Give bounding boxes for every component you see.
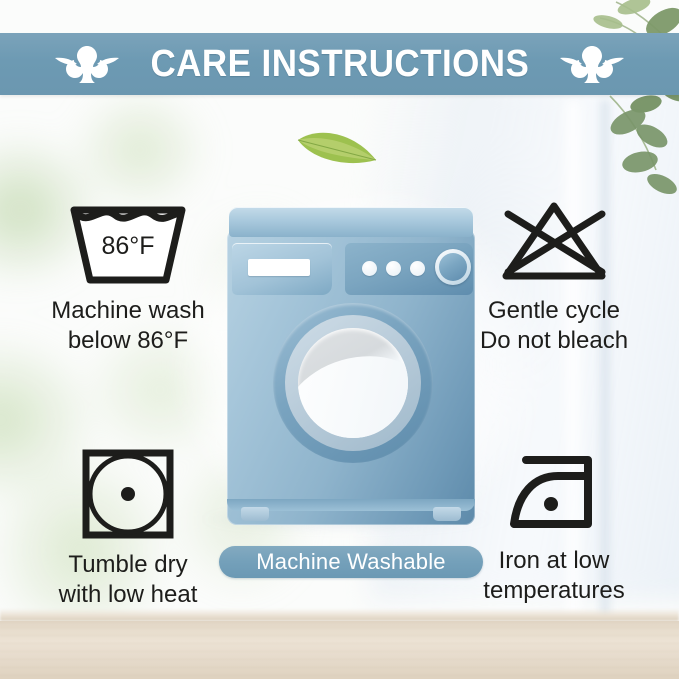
- machine-top-lid: [229, 207, 473, 237]
- header-banner: CARE INSTRUCTIONS: [0, 33, 679, 95]
- care-item-caption: Machine wash below 86°F: [10, 296, 246, 356]
- front-load-washing-machine-illustration: [227, 207, 475, 525]
- page-title: CARE INSTRUCTIONS: [150, 43, 529, 86]
- machine-door-glass-highlight: [298, 339, 408, 438]
- tumble-dry-low-heat-icon: [10, 446, 246, 542]
- table-edge: [0, 609, 679, 621]
- care-item-caption: Tumble dry with low heat: [10, 550, 246, 610]
- machine-foot-left: [241, 507, 269, 521]
- control-button-3: [410, 261, 425, 276]
- wooden-table-surface: [0, 621, 679, 679]
- program-dial: [435, 249, 471, 285]
- machine-door-outer-ring: [273, 303, 433, 463]
- fleur-de-lis-icon-right: [559, 42, 625, 86]
- green-leaf-icon: [296, 124, 380, 170]
- wash-temperature-value: 86°F: [101, 232, 154, 260]
- detergent-drawer-slot: [248, 259, 310, 276]
- machine-washable-badge: Machine Washable: [219, 546, 483, 578]
- care-instructions-infographic: CARE INSTRUCTIONS: [0, 0, 679, 679]
- detergent-drawer: [232, 243, 332, 295]
- table-wood-grain: [0, 621, 679, 679]
- wash-tub-icon: 86°F: [10, 196, 246, 288]
- machine-door-glass: [298, 328, 408, 438]
- control-button-2: [386, 261, 401, 276]
- machine-washable-badge-label: Machine Washable: [256, 549, 445, 575]
- program-dial-inner: [439, 253, 467, 281]
- care-item-tumble-dry: Tumble dry with low heat: [10, 446, 246, 610]
- eucalyptus-branch-lower-icon: [600, 92, 679, 212]
- machine-foot-right: [433, 507, 461, 521]
- machine-door-inner-ring: [285, 315, 421, 451]
- fleur-de-lis-icon-left: [54, 42, 120, 86]
- care-item-machine-wash: 86°F Machine wash below 86°F: [10, 196, 246, 356]
- control-button-1: [362, 261, 377, 276]
- control-panel: [345, 243, 473, 295]
